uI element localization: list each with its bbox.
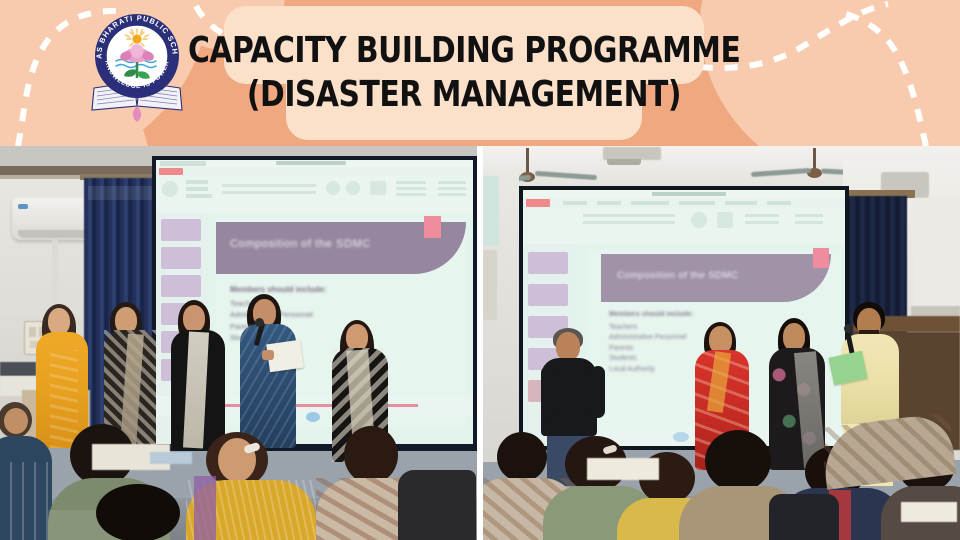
slide-title: Composition of the SDMC <box>230 238 460 250</box>
ceiling-fan <box>813 148 816 170</box>
chair <box>398 470 476 540</box>
photo-right-staff-presenting: Composition of the SDMC Members should i… <box>483 146 960 540</box>
chair <box>769 494 839 540</box>
poster-header: VIKAS BHARATI PUBLIC SCHOOL KNOWLEDGE IS… <box>0 0 960 146</box>
side-whiteboard <box>483 176 499 246</box>
ceiling-fan <box>526 148 529 174</box>
school-logo: VIKAS BHARATI PUBLIC SCHOOL KNOWLEDGE IS… <box>82 6 192 124</box>
title-line-2: (DISASTER MANAGEMENT) <box>247 75 681 115</box>
slide-accent-block <box>813 248 829 268</box>
audience-member <box>823 406 953 482</box>
poster-canvas: VIKAS BHARATI PUBLIC SCHOOL KNOWLEDGE IS… <box>0 0 960 540</box>
photo-left-teachers-presenting: Composition of the SDMC Members should i… <box>0 146 477 540</box>
audience-member <box>86 484 206 540</box>
powerpoint-ribbon <box>156 175 473 214</box>
poster-title: CAPACITY BUILDING PROGRAMME (DISASTER MA… <box>224 6 704 140</box>
slide-bullet: Teachers <box>609 323 799 334</box>
slide-title: Composition of the SDMC <box>617 270 827 281</box>
powerpoint-file-tab <box>159 168 183 175</box>
title-line-1: CAPACITY BUILDING PROGRAMME <box>188 31 740 71</box>
audience-member <box>0 402 50 540</box>
slide-body-heading: Members should include: <box>609 310 799 321</box>
photo-strip: Composition of the SDMC Members should i… <box>0 146 960 540</box>
slide-accent-block <box>424 216 441 238</box>
